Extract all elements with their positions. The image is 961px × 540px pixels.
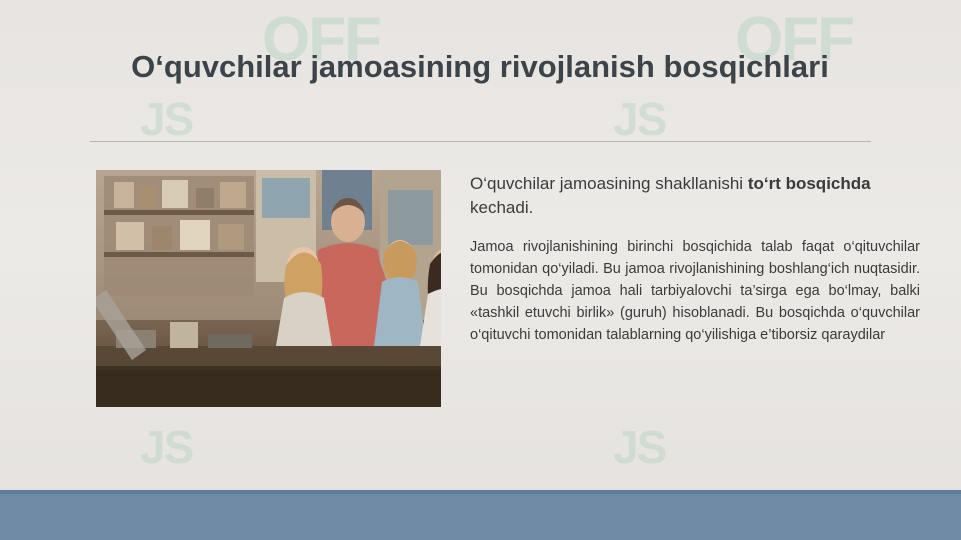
- classroom-workshop-photo: [96, 170, 441, 407]
- lead-bold: to‘rt bosqichda: [748, 174, 871, 193]
- watermark-text: JS: [140, 92, 192, 146]
- lead-suffix: kechadi.: [470, 198, 533, 217]
- body-text-column: O‘quvchilar jamoasining shakllanishi to‘…: [470, 172, 920, 346]
- body-paragraph: Jamoa rivojlanishining birinchi bosqichi…: [470, 236, 920, 346]
- watermark-text: JS: [613, 420, 665, 474]
- lead-paragraph: O‘quvchilar jamoasining shakllanishi to‘…: [470, 172, 920, 220]
- lead-prefix: O‘quvchilar jamoasining shakllanishi: [470, 174, 748, 193]
- slide-canvas: OFF OFF JS JS JS JS JS O‘quvchilar jamoa…: [0, 0, 961, 540]
- footer-bar: [0, 494, 961, 540]
- watermark-text: JS: [613, 92, 665, 146]
- watermark-text: JS: [140, 420, 192, 474]
- slide-title: O‘quvchilar jamoasining rivojlanish bosq…: [90, 48, 870, 87]
- title-divider: [90, 141, 871, 142]
